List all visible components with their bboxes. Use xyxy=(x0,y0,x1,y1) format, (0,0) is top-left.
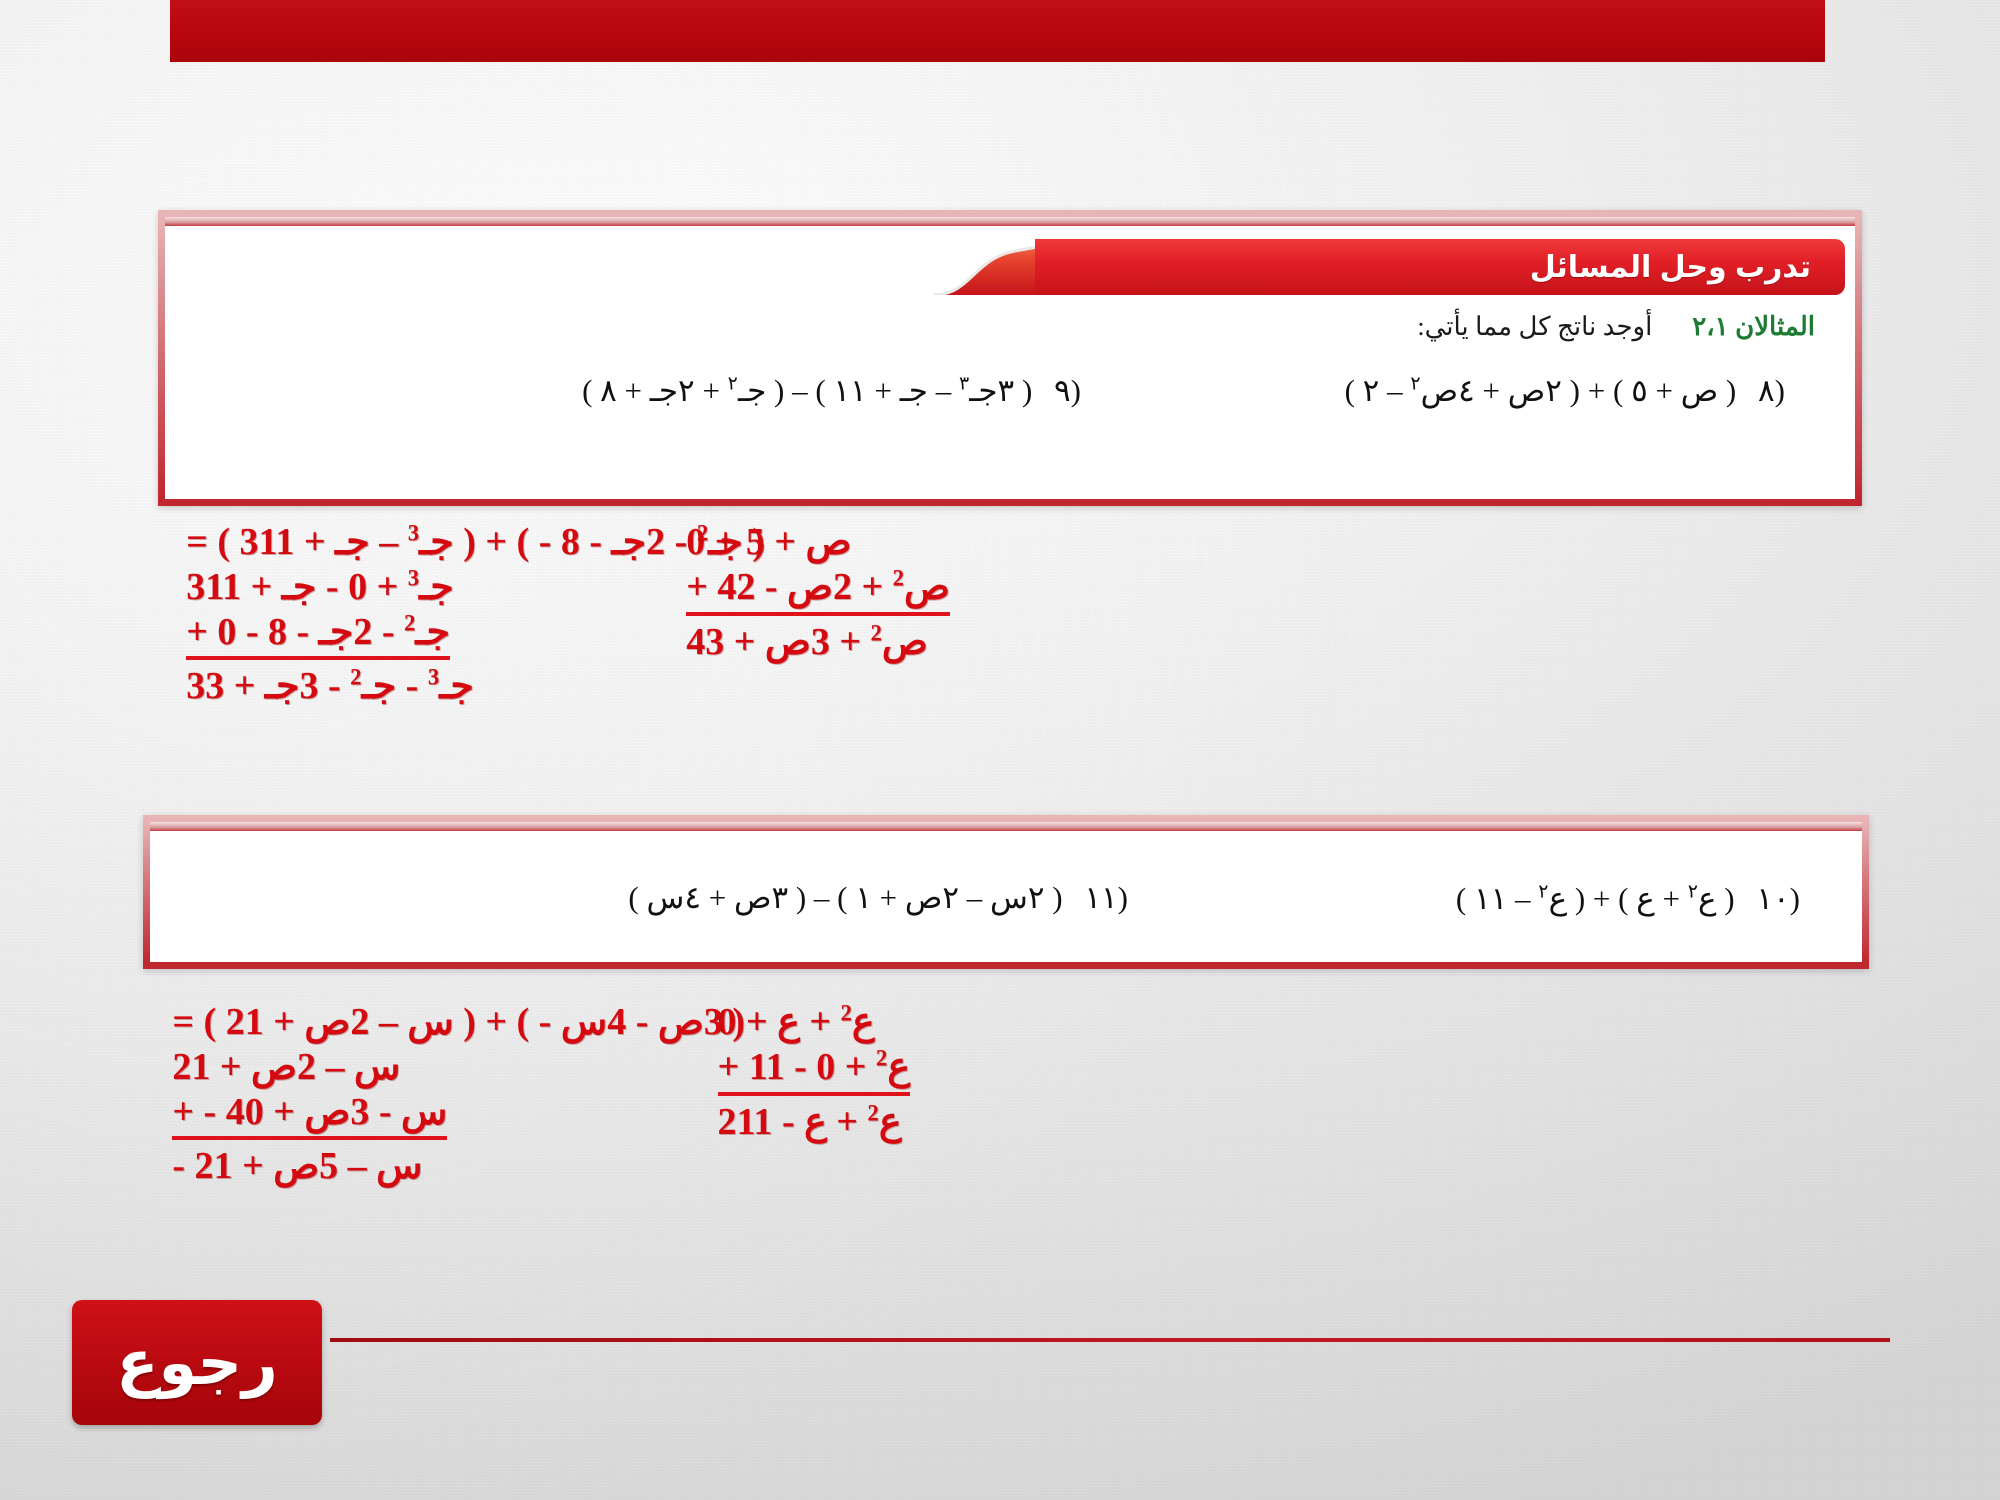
header-tail-shape xyxy=(913,239,1043,295)
problem-10-number: (١٠ xyxy=(1756,881,1800,916)
instruction-text: أوجد ناتج كل مما يأتي: xyxy=(1417,312,1652,342)
problem-row-2: (١٠ ( ع٢ + ع ) + ( ع٢ – ١١ ) (١١ ( ٢س – … xyxy=(184,846,1828,906)
back-button[interactable]: رجوع xyxy=(72,1300,322,1425)
problem-8: (٨ ( ص + ٥ ) + ( ٢ص + ٤ص٢ – ٢ ) xyxy=(1345,372,1785,409)
panel-header: تدرب وحل المسائل xyxy=(165,239,1855,295)
instruction-row: المثالان ٢،١ أوجد ناتج كل مما يأتي: xyxy=(205,312,1815,342)
panel-header-title: تدرب وحل المسائل xyxy=(1530,250,1811,285)
practice-panel-1: تدرب وحل المسائل المثالان ٢،١ أوجد ناتج … xyxy=(158,210,1862,506)
panel2-top-strip xyxy=(150,822,1862,831)
solution-10-line-2: + ع2 + 0 - 11 xyxy=(718,1045,910,1096)
solution-10-result: 2ع2 + ع - 11 xyxy=(718,1100,902,1145)
solution-11-setup: = ( 2س – 2ص + 1 ) + ( - 3ص - 4س ) xyxy=(172,1000,745,1045)
problem-row-1: (٨ ( ص + ٥ ) + ( ٢ص + ٤ص٢ – ٢ ) (٩ ( ٣جـ… xyxy=(199,372,1821,432)
problem-10-expression: ( ع٢ + ع ) + ( ع٢ – ١١ ) xyxy=(1456,881,1735,916)
header-tail-icon xyxy=(913,239,1043,295)
footer-divider xyxy=(330,1338,1890,1342)
solution-11-line-1: 2س – 2ص + 1 xyxy=(172,1045,400,1090)
problem-9: (٩ ( ٣جـ٣ – جـ + ١١ ) – ( جـ٢ + ٢جـ + ٨ … xyxy=(582,372,1081,409)
top-red-banner xyxy=(170,0,1825,62)
back-button-label: رجوع xyxy=(116,1326,278,1399)
solution-11-line-2: + - 4س - 3ص + 0 xyxy=(172,1090,447,1141)
example-reference-label: المثالان ٢،١ xyxy=(1692,312,1815,342)
practice-panel-2: (١٠ ( ع٢ + ع ) + ( ع٢ – ١١ ) (١١ ( ٢س – … xyxy=(143,815,1869,969)
problem-10: (١٠ ( ع٢ + ع ) + ( ع٢ – ١١ ) xyxy=(1456,880,1800,917)
solution-problem-9: = ( 3جـ3 – جـ + 11 ) + ( - جـ2 - 2جـ - 8… xyxy=(186,520,765,709)
problem-8-expression: ( ص + ٥ ) + ( ٢ص + ٤ص٢ – ٢ ) xyxy=(1345,373,1737,408)
solution-9-result: 3جـ3 - جـ2 - 3جـ + 3 xyxy=(186,664,474,709)
solution-9-line-1: 3جـ3 + 0 - جـ + 11 xyxy=(186,565,454,610)
problem-9-number: (٩ xyxy=(1054,373,1081,408)
problem-8-number: (٨ xyxy=(1758,373,1785,408)
solution-9-line-2: + 0 - جـ2 - 2جـ - 8 xyxy=(186,610,450,661)
problem-9-expression: ( ٣جـ٣ – جـ + ١١ ) – ( جـ٢ + ٢جـ + ٨ ) xyxy=(582,373,1032,408)
panel-header-bar: تدرب وحل المسائل xyxy=(1035,239,1845,295)
problem-11-number: (١١ xyxy=(1084,880,1128,915)
solution-9-setup: = ( 3جـ3 – جـ + 11 ) + ( - جـ2 - 2جـ - 8… xyxy=(186,520,765,565)
problem-11: (١١ ( ٢س – ٢ص + ١ ) – ( ٣ص + ٤س ) xyxy=(628,880,1128,916)
problem-11-expression: ( ٢س – ٢ص + ١ ) – ( ٣ص + ٤س ) xyxy=(628,880,1062,915)
panel-top-strip xyxy=(165,217,1855,226)
solution-11-result: - 2س – 5ص + 1 xyxy=(172,1144,422,1189)
solution-problem-10: ع2 + ع + 0 + ع2 + 0 - 11 2ع2 + ع - 11 xyxy=(718,1000,910,1144)
solution-problem-11: = ( 2س – 2ص + 1 ) + ( - 3ص - 4س ) 2س – 2… xyxy=(172,1000,745,1189)
